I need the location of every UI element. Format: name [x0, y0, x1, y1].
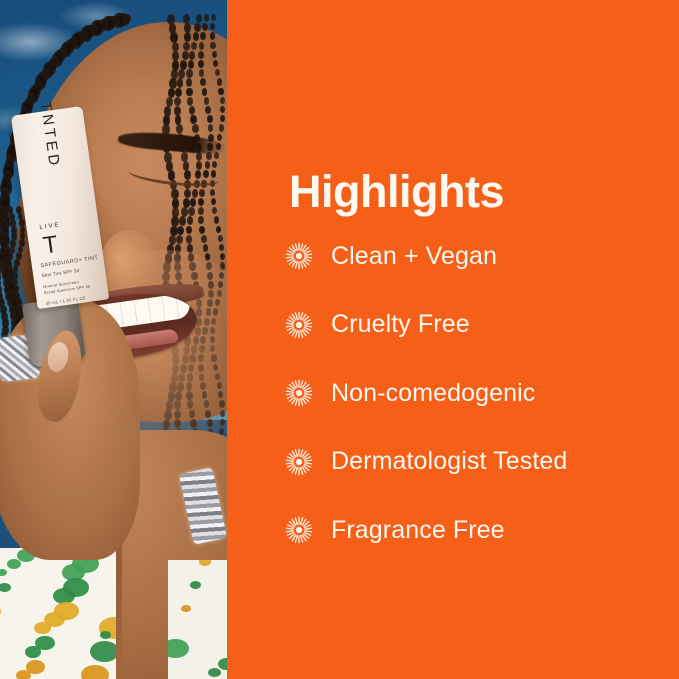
tube-sub-brand-label: LIVE	[39, 222, 61, 231]
tube-mark-label: T	[42, 233, 60, 259]
list-item: Dermatologist Tested	[285, 428, 665, 497]
sunburst-icon	[285, 242, 313, 270]
product-highlights-graphic: TNTED LIVE T SAFEGUARD+ TINT Skin Tint S…	[0, 0, 679, 679]
lifestyle-photo: TNTED LIVE T SAFEGUARD+ TINT Skin Tint S…	[0, 0, 227, 679]
sunburst-icon	[285, 311, 313, 339]
list-item-label: Dermatologist Tested	[331, 447, 567, 476]
list-item-label: Fragrance Free	[331, 516, 505, 545]
list-item: Clean + Vegan	[285, 222, 665, 291]
tube-spec: Skin Tint SPF 50	[41, 268, 80, 278]
list-item: Cruelty Free	[285, 291, 665, 360]
list-item-label: Non-comedogenic	[331, 379, 535, 408]
sunburst-icon	[285, 516, 313, 544]
sunburst-icon	[285, 448, 313, 476]
highlights-panel: Highlights Clean + Vegan Cruelty Free No…	[227, 0, 679, 679]
patterned-shirt-left	[0, 548, 116, 679]
list-item: Fragrance Free	[285, 496, 665, 565]
sunburst-icon	[285, 379, 313, 407]
page-title: Highlights	[289, 169, 504, 214]
tube-brand-label: TNTED	[37, 101, 63, 170]
highlights-list: Clean + Vegan Cruelty Free Non-comedogen…	[285, 222, 665, 565]
list-item: Non-comedogenic	[285, 359, 665, 428]
list-item-label: Clean + Vegan	[331, 242, 497, 271]
list-item-label: Cruelty Free	[331, 310, 470, 339]
patterned-shirt-right	[168, 560, 227, 679]
